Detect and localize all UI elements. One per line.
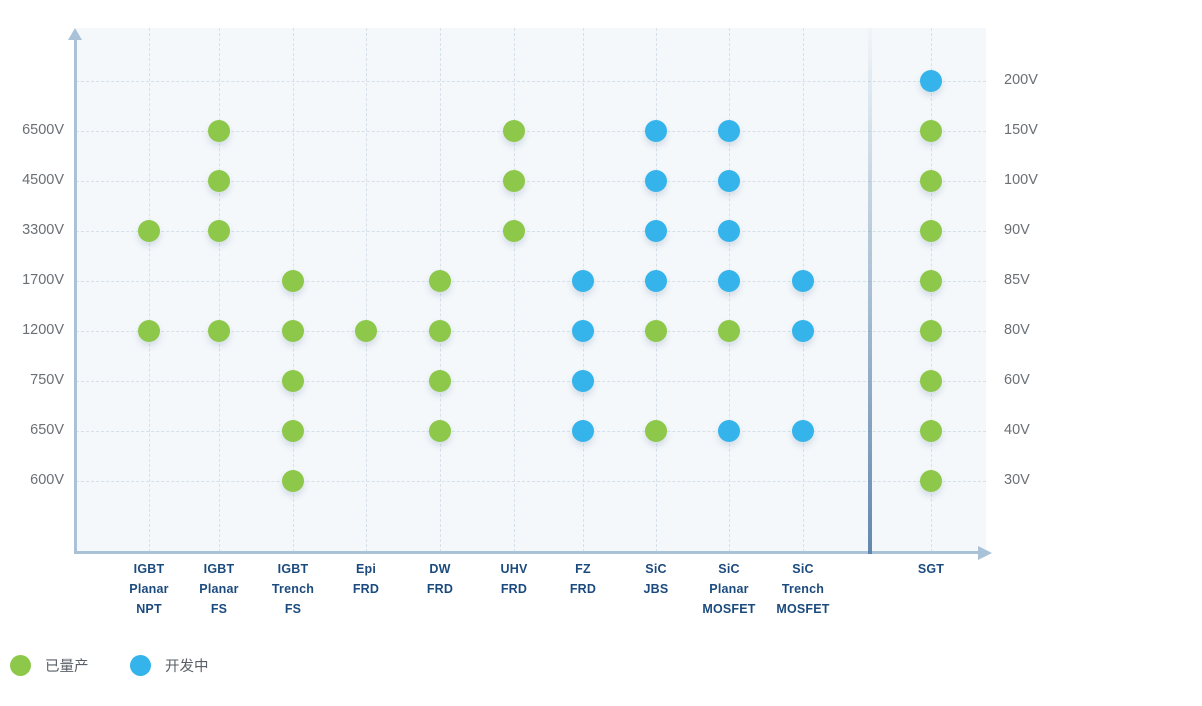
legend-label: 已量产 [45, 655, 89, 676]
gridline-vertical-0 [149, 28, 150, 552]
data-point-epi-frd-1200V[interactable] [355, 320, 377, 342]
y-axis-tick-left-650V: 650V [30, 423, 64, 438]
data-point-igbt-planar-fs-4500V[interactable] [208, 170, 230, 192]
data-point-sgt-200V[interactable] [920, 70, 942, 92]
data-point-sic-planar-mosfet-4500V[interactable] [718, 170, 740, 192]
data-point-uhv-frd-6500V[interactable] [503, 120, 525, 142]
gridline-vertical-3 [366, 28, 367, 552]
data-point-sic-jbs-4500V[interactable] [645, 170, 667, 192]
data-point-sgt-85V[interactable] [920, 270, 942, 292]
x-axis-label-line: MOSFET [743, 600, 863, 620]
data-point-igbt-planar-fs-1200V[interactable] [208, 320, 230, 342]
gridline-horizontal-0 [76, 81, 986, 82]
y-axis-tick-left-600V: 600V [30, 473, 64, 488]
y-axis-tick-left-1200V: 1200V [22, 323, 64, 338]
data-point-igbt-trench-fs-1700V[interactable] [282, 270, 304, 292]
data-point-sic-jbs-3300V[interactable] [645, 220, 667, 242]
x-axis-tick-sgt: SGT [871, 560, 991, 580]
gridline-vertical-1 [219, 28, 220, 552]
y-axis-arrow-icon [68, 28, 82, 40]
y-axis-tick-left-4500V: 4500V [22, 173, 64, 188]
data-point-sic-trench-mosfet-1200V[interactable] [792, 320, 814, 342]
x-axis-label-line: SiC [743, 560, 863, 580]
legend-label: 开发中 [165, 655, 209, 676]
data-point-sgt-30V[interactable] [920, 470, 942, 492]
gridline-horizontal-7 [76, 431, 986, 432]
gridline-horizontal-6 [76, 381, 986, 382]
data-point-sic-trench-mosfet-650V[interactable] [792, 420, 814, 442]
data-point-igbt-planar-npt-1200V[interactable] [138, 320, 160, 342]
data-point-igbt-trench-fs-750V[interactable] [282, 370, 304, 392]
data-point-sgt-100V[interactable] [920, 170, 942, 192]
y-axis-tick-right-30V: 30V [1004, 473, 1030, 488]
gridline-vertical-5 [514, 28, 515, 552]
data-point-fz-frd-1200V[interactable] [572, 320, 594, 342]
data-point-dw-frd-1700V[interactable] [429, 270, 451, 292]
y-axis-tick-right-200V: 200V [1004, 73, 1038, 88]
x-axis-tick-sic-trench-mosfet: SiCTrenchMOSFET [743, 560, 863, 619]
data-point-igbt-planar-npt-3300V[interactable] [138, 220, 160, 242]
data-point-sgt-90V[interactable] [920, 220, 942, 242]
data-point-igbt-trench-fs-650V[interactable] [282, 420, 304, 442]
y-axis-tick-right-150V: 150V [1004, 123, 1038, 138]
green-circle-icon [10, 655, 31, 676]
data-point-sic-jbs-1700V[interactable] [645, 270, 667, 292]
data-point-igbt-planar-fs-6500V[interactable] [208, 120, 230, 142]
data-point-dw-frd-1200V[interactable] [429, 320, 451, 342]
data-point-sgt-150V[interactable] [920, 120, 942, 142]
chart-legend: 已量产开发中 [0, 655, 1202, 695]
data-point-sic-planar-mosfet-1700V[interactable] [718, 270, 740, 292]
data-point-sic-jbs-650V[interactable] [645, 420, 667, 442]
x-axis-line [76, 551, 980, 554]
data-point-fz-frd-1700V[interactable] [572, 270, 594, 292]
gridline-horizontal-8 [76, 481, 986, 482]
data-point-sic-trench-mosfet-1700V[interactable] [792, 270, 814, 292]
data-point-fz-frd-750V[interactable] [572, 370, 594, 392]
blue-circle-icon [130, 655, 151, 676]
data-point-sic-planar-mosfet-1200V[interactable] [718, 320, 740, 342]
data-point-igbt-planar-fs-3300V[interactable] [208, 220, 230, 242]
data-point-uhv-frd-4500V[interactable] [503, 170, 525, 192]
y-axis-tick-right-100V: 100V [1004, 173, 1038, 188]
y-axis-tick-right-40V: 40V [1004, 423, 1030, 438]
data-point-sic-planar-mosfet-3300V[interactable] [718, 220, 740, 242]
data-point-sic-planar-mosfet-6500V[interactable] [718, 120, 740, 142]
legend-item-developing[interactable]: 开发中 [130, 655, 209, 676]
y-axis-tick-right-90V: 90V [1004, 223, 1030, 238]
chart-root: 6500V4500V3300V1700V1200V750V650V600V200… [0, 0, 1202, 706]
y-axis-tick-right-80V: 80V [1004, 323, 1030, 338]
x-axis-arrow-icon [978, 546, 992, 560]
plot-area [76, 28, 986, 552]
x-axis-label-line: Trench [743, 580, 863, 600]
data-point-fz-frd-650V[interactable] [572, 420, 594, 442]
y-axis-tick-right-60V: 60V [1004, 373, 1030, 388]
legend-item-produced[interactable]: 已量产 [10, 655, 89, 676]
data-point-igbt-trench-fs-600V[interactable] [282, 470, 304, 492]
data-point-uhv-frd-3300V[interactable] [503, 220, 525, 242]
data-point-sic-jbs-1200V[interactable] [645, 320, 667, 342]
data-point-sgt-60V[interactable] [920, 370, 942, 392]
y-axis-tick-left-750V: 750V [30, 373, 64, 388]
gridline-horizontal-4 [76, 281, 986, 282]
sgt-section-divider [868, 28, 872, 554]
data-point-sic-jbs-6500V[interactable] [645, 120, 667, 142]
data-point-sic-planar-mosfet-650V[interactable] [718, 420, 740, 442]
x-axis-label-line: FS [233, 600, 353, 620]
y-axis-tick-right-85V: 85V [1004, 273, 1030, 288]
data-point-dw-frd-650V[interactable] [429, 420, 451, 442]
y-axis-tick-left-3300V: 3300V [22, 223, 64, 238]
data-point-sgt-80V[interactable] [920, 320, 942, 342]
y-axis-tick-left-6500V: 6500V [22, 123, 64, 138]
data-point-dw-frd-750V[interactable] [429, 370, 451, 392]
y-axis-line [74, 36, 77, 554]
y-axis-tick-left-1700V: 1700V [22, 273, 64, 288]
data-point-sgt-40V[interactable] [920, 420, 942, 442]
x-axis-label-line: SGT [871, 560, 991, 580]
data-point-igbt-trench-fs-1200V[interactable] [282, 320, 304, 342]
